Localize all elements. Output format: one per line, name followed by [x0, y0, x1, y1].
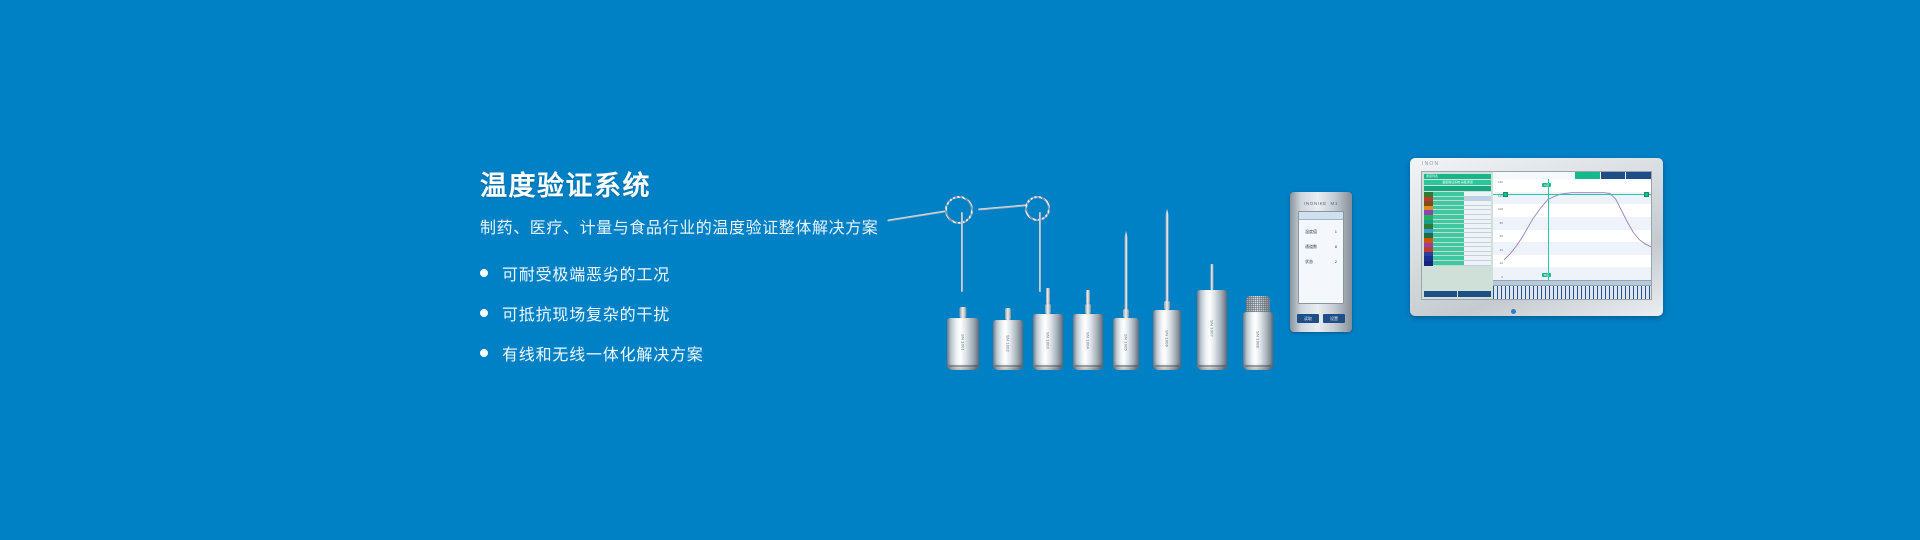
probe-neck — [1085, 304, 1091, 314]
monitor-brand: INON — [1422, 161, 1439, 167]
channel-list-panel: 通道列表 温度验证系统 采集通道 — [1422, 172, 1493, 299]
probe-neck — [1123, 309, 1129, 318]
feature-text: 可耐受极端恶劣的工况 — [502, 261, 670, 285]
coil-probe-ring — [1025, 196, 1050, 221]
monitor-workstation: INON 通道列表 温度验证系统 采集通道 — [1410, 158, 1663, 316]
probe-label: SN 1008 — [1256, 331, 1261, 348]
probe-label: SN 1003 — [1046, 332, 1051, 349]
bullet-dot-icon — [480, 309, 488, 317]
toolbar-param-settings-button[interactable] — [1422, 299, 1452, 300]
probe-body: SN 1002 — [993, 320, 1023, 370]
channel-color-swatch — [1424, 261, 1433, 266]
handheld-screen-row: 温度值 1 — [1305, 229, 1337, 235]
probe-label: SN 1005 — [1124, 334, 1129, 351]
cursor-label-bottom: B点 — [1542, 273, 1551, 277]
probe-label: SN 1006 — [1165, 330, 1170, 347]
coil-probe-ring — [945, 196, 973, 224]
probe-label: SN 1007 — [1210, 320, 1215, 337]
handheld-keypad: 读取 设置 — [1297, 314, 1345, 323]
feature-text: 可抵抗现场复杂的干扰 — [502, 301, 670, 325]
temperature-chart: 140 120 100 80 60 40 20 0 — [1493, 179, 1651, 280]
toolbar-report-button[interactable] — [1590, 299, 1620, 300]
needle-probe — [1166, 209, 1169, 301]
handheld-screen-row: 状态 2 — [1305, 259, 1337, 265]
needle-probe — [1125, 231, 1128, 309]
verification-software: 通道列表 温度验证系统 采集通道 — [1422, 172, 1651, 299]
handheld-key: 设置 — [1323, 314, 1345, 323]
channel-panel-subheader: 温度验证系统 采集通道 — [1424, 180, 1491, 185]
probe-stem — [1046, 288, 1050, 304]
monitor-screen: 通道列表 温度验证系统 采集通道 — [1421, 171, 1652, 300]
vertical-cursor[interactable] — [1548, 179, 1549, 280]
probe-label: SN 1004 — [1086, 332, 1091, 349]
toolbar-next-page-button[interactable] — [1515, 299, 1545, 300]
cursor-label-top: A点 — [1542, 183, 1551, 187]
probe-neck — [1164, 301, 1170, 310]
probe-body: SN 1006 — [1153, 310, 1181, 370]
bullet-dot-icon — [480, 269, 488, 277]
channel-table — [1424, 192, 1491, 290]
probe-body: SN 1004 — [1073, 314, 1103, 370]
software-toolbar — [1422, 299, 1651, 300]
probe-body: SN 1001 — [947, 318, 979, 370]
toolbar-channel-settings-button[interactable] — [1453, 299, 1483, 300]
channel-table-columns — [1424, 186, 1491, 191]
bullet-dot-icon — [480, 349, 488, 357]
coil-probe-stem — [961, 212, 963, 292]
channel-panel-header: 通道列表 — [1424, 174, 1491, 179]
stop-button[interactable] — [1458, 291, 1491, 297]
horizontal-cursor[interactable] — [1493, 194, 1651, 195]
toolbar-exit-button[interactable] — [1621, 299, 1651, 300]
feature-text: 有线和无线一体化解决方案 — [502, 341, 704, 365]
handheld-screen-titlebar — [1299, 212, 1343, 220]
handheld-brand: INONIKE M1 — [1290, 201, 1352, 206]
monitor-power-led — [1511, 309, 1516, 314]
tab-report[interactable] — [1601, 172, 1626, 179]
channel-panel-footer — [1424, 291, 1491, 297]
tab-realtime-curve[interactable] — [1575, 172, 1600, 179]
handheld-reader: INONIKE M1 温度值 1 通道数 8 状态 2 读取 — [1290, 192, 1352, 332]
handheld-screen-row: 通道数 8 — [1305, 244, 1337, 250]
handheld-key: 读取 — [1297, 314, 1319, 323]
probe-body: SN 1003 — [1033, 314, 1063, 370]
probe-neck — [1045, 304, 1051, 314]
chart-panel: 140 120 100 80 60 40 20 0 — [1493, 172, 1651, 299]
probe-label: SN 1002 — [1006, 335, 1011, 352]
tab-export[interactable] — [1626, 172, 1651, 179]
product-photo-group: SN 1001 SN 1002 SN 1003 SN 1004 — [905, 140, 1465, 370]
chart-x-axis-ticks — [1493, 285, 1651, 299]
cursor-handle-left[interactable] — [1503, 192, 1508, 197]
probe-neck — [1005, 308, 1011, 320]
handheld-screen: 温度值 1 通道数 8 状态 2 — [1298, 211, 1344, 304]
cursor-handle-right[interactable] — [1644, 192, 1649, 197]
table-row — [1424, 261, 1491, 266]
probe-body: SN 1005 — [1113, 318, 1139, 370]
probe-neck — [960, 307, 967, 318]
mesh-filter-cap — [1246, 296, 1270, 312]
start-button[interactable] — [1424, 291, 1457, 297]
probe-body: SN 1007 — [1197, 290, 1227, 370]
probe-body: SN 1008 — [1243, 312, 1273, 370]
probe-stem — [1086, 290, 1090, 304]
probe-label: SN 1001 — [961, 334, 966, 351]
toolbar-prev-page-button[interactable] — [1484, 299, 1514, 300]
coil-probe-stem — [1039, 212, 1041, 292]
chart-tabs — [1493, 172, 1651, 179]
hero-banner: 温度验证系统 制药、医疗、计量与食品行业的温度验证整体解决方案 可耐受极端恶劣的… — [0, 0, 1920, 540]
probe-stem — [1211, 264, 1214, 290]
